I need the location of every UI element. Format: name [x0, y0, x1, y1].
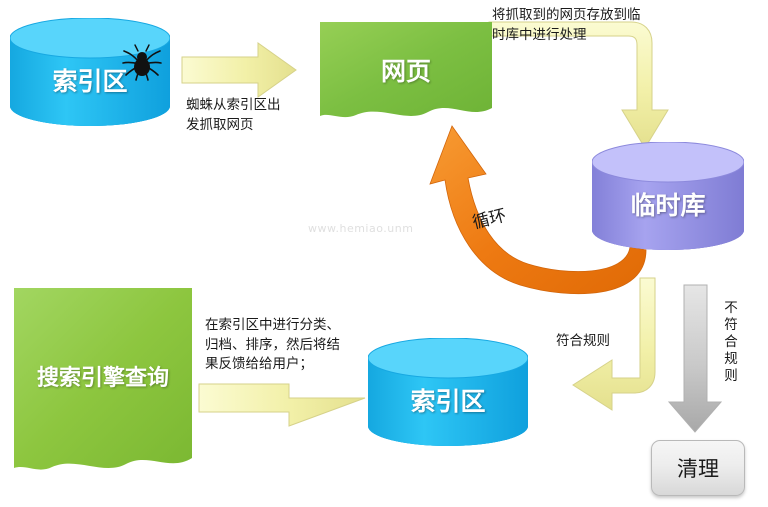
- spider-icon: [120, 42, 162, 82]
- node-temp-store[interactable]: 临时库: [592, 142, 744, 250]
- node-webpage[interactable]: 网页: [320, 22, 492, 116]
- watermark: www.hemiao.unm: [308, 222, 413, 235]
- annotation-not-match-rule-note: 不 符 合 规 则: [722, 300, 740, 384]
- arrow-temp-to-cleanup: [669, 285, 721, 432]
- arrow-index-to-query: [199, 384, 365, 426]
- annotation-spider-note: 蜘蛛从索引区出 发抓取网页: [186, 96, 306, 135]
- node-search-query[interactable]: 搜索引擎查询: [14, 288, 192, 473]
- diagram-canvas: 索引区: [0, 0, 768, 507]
- node-index-zone-bottom[interactable]: 索引区: [368, 338, 528, 446]
- annotation-index-process-note: 在索引区中进行分类、 归档、排序，然后将结 果反馈给给用户；: [205, 316, 365, 375]
- node-cleanup[interactable]: 清理: [651, 440, 745, 496]
- arrow-index-to-webpage: [182, 43, 296, 97]
- annotation-match-rule-note: 符合规则: [556, 332, 646, 352]
- annotation-store-note: 将抓取到的网页存放到临 时库中进行处理: [492, 6, 667, 45]
- node-cleanup-label: 清理: [652, 441, 744, 495]
